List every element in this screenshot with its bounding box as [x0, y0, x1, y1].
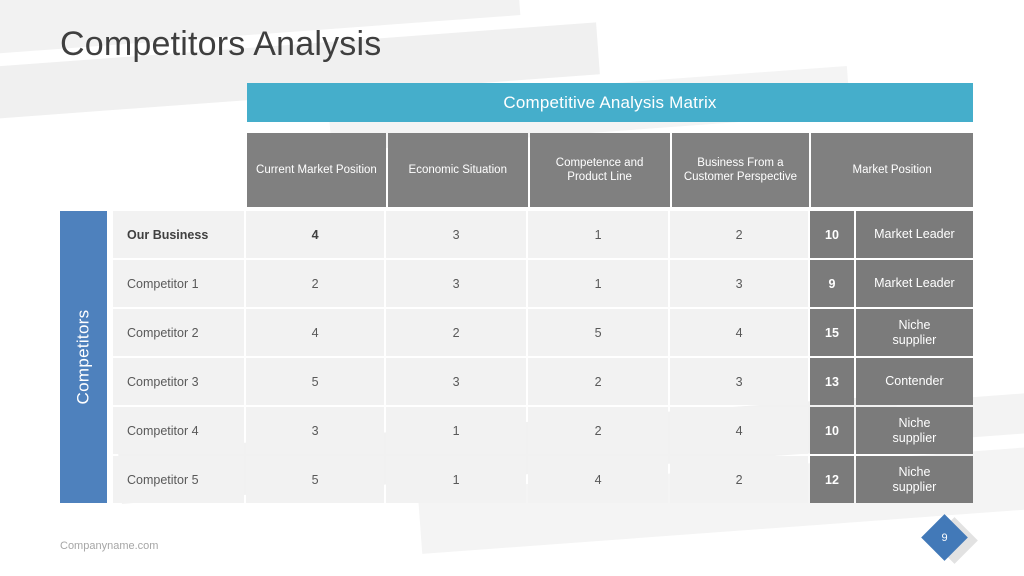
cell-economic-situation: 2 [386, 309, 526, 356]
cell-total-score: 15 [810, 309, 854, 356]
table-row[interactable]: Competitor 5514212Niche supplier [113, 456, 973, 503]
column-header-current-market-position: Current Market Position [247, 133, 386, 207]
table-body: Our Business431210Market LeaderCompetito… [113, 211, 973, 503]
cell-total-score: 10 [810, 211, 854, 258]
cell-market-position: Niche supplier [856, 309, 973, 356]
cell-competitor-name: Competitor 4 [113, 407, 244, 454]
slide-canvas: Competitors Analysis Competitive Analysi… [0, 0, 1024, 576]
column-header-business-from-customer-perspective: Business From a Customer Perspective [672, 133, 810, 207]
cell-market-position: Niche supplier [856, 456, 973, 503]
footer-company-name: Companyname.com [60, 540, 158, 552]
cell-business-from-customer-perspective: 2 [670, 211, 808, 258]
row-group-label-competitors: Competitors [60, 211, 107, 503]
cell-competitor-name: Our Business [113, 211, 244, 258]
cell-current-market-position: 3 [246, 407, 384, 454]
cell-business-from-customer-perspective: 4 [670, 407, 808, 454]
table-row[interactable]: Competitor 4312410Niche supplier [113, 407, 973, 454]
page-title: Competitors Analysis [60, 25, 381, 64]
cell-economic-situation: 3 [386, 260, 526, 307]
cell-current-market-position: 2 [246, 260, 384, 307]
column-header-competence-and-product-line: Competence and Product Line [530, 133, 670, 207]
cell-market-position: Market Leader [856, 260, 973, 307]
table-row[interactable]: Competitor 3532313Contender [113, 358, 973, 405]
matrix-banner-title: Competitive Analysis Matrix [247, 83, 973, 122]
cell-competitor-name: Competitor 2 [113, 309, 244, 356]
table-row[interactable]: Our Business431210Market Leader [113, 211, 973, 258]
cell-current-market-position: 5 [246, 456, 384, 503]
cell-competitor-name: Competitor 5 [113, 456, 244, 503]
cell-competence-and-product-line: 2 [528, 358, 668, 405]
cell-economic-situation: 1 [386, 407, 526, 454]
cell-business-from-customer-perspective: 4 [670, 309, 808, 356]
cell-total-score: 12 [810, 456, 854, 503]
table-row[interactable]: Competitor 123139Market Leader [113, 260, 973, 307]
page-number-text: 9 [928, 521, 961, 554]
cell-competence-and-product-line: 1 [528, 260, 668, 307]
cell-current-market-position: 4 [246, 211, 384, 258]
cell-business-from-customer-perspective: 3 [670, 260, 808, 307]
cell-competitor-name: Competitor 1 [113, 260, 244, 307]
cell-competitor-name: Competitor 3 [113, 358, 244, 405]
cell-business-from-customer-perspective: 3 [670, 358, 808, 405]
column-header-economic-situation: Economic Situation [388, 133, 528, 207]
cell-market-position: Contender [856, 358, 973, 405]
page-number-badge: 9 [922, 518, 982, 564]
cell-economic-situation: 3 [386, 211, 526, 258]
cell-total-score: 13 [810, 358, 854, 405]
cell-competence-and-product-line: 4 [528, 456, 668, 503]
table-header-row: Current Market Position Economic Situati… [247, 133, 973, 207]
cell-current-market-position: 4 [246, 309, 384, 356]
column-header-market-position: Market Position [811, 133, 973, 207]
cell-total-score: 9 [810, 260, 854, 307]
cell-business-from-customer-perspective: 2 [670, 456, 808, 503]
cell-total-score: 10 [810, 407, 854, 454]
cell-competence-and-product-line: 1 [528, 211, 668, 258]
cell-economic-situation: 3 [386, 358, 526, 405]
cell-economic-situation: 1 [386, 456, 526, 503]
cell-current-market-position: 5 [246, 358, 384, 405]
cell-competence-and-product-line: 2 [528, 407, 668, 454]
row-group-label-text: Competitors [74, 310, 94, 405]
table-row[interactable]: Competitor 2425415Niche supplier [113, 309, 973, 356]
cell-market-position: Niche supplier [856, 407, 973, 454]
cell-market-position: Market Leader [856, 211, 973, 258]
cell-competence-and-product-line: 5 [528, 309, 668, 356]
